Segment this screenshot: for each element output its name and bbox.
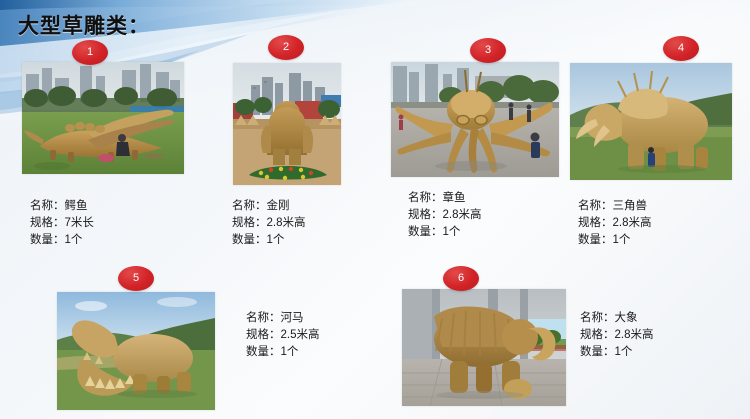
label-qty-2: 数量： bbox=[232, 234, 267, 246]
item-photo-3 bbox=[391, 62, 559, 177]
value-name-2: 金刚 bbox=[267, 200, 290, 212]
value-spec-3: 2.8米高 bbox=[443, 209, 482, 221]
label-name-3: 名称： bbox=[408, 192, 443, 204]
item-badge-2: 2 bbox=[268, 35, 304, 60]
item-caption-5: 名称：河马 规格：2.5米高 数量：1个 bbox=[246, 310, 320, 361]
item-badge-4: 4 bbox=[663, 36, 699, 61]
item-badge-3: 3 bbox=[470, 38, 506, 63]
item-photo-2 bbox=[233, 63, 341, 185]
label-name-6: 名称： bbox=[580, 312, 615, 324]
value-name-3: 章鱼 bbox=[443, 192, 466, 204]
value-qty-1: 1个 bbox=[65, 234, 83, 246]
label-qty-3: 数量： bbox=[408, 226, 443, 238]
value-qty-3: 1个 bbox=[443, 226, 461, 238]
label-name-5: 名称： bbox=[246, 312, 281, 324]
label-spec-1: 规格： bbox=[30, 217, 65, 229]
value-spec-5: 2.5米高 bbox=[281, 329, 320, 341]
label-spec-5: 规格： bbox=[246, 329, 281, 341]
value-qty-6: 1个 bbox=[615, 346, 633, 358]
value-name-6: 大象 bbox=[615, 312, 638, 324]
value-name-5: 河马 bbox=[281, 312, 304, 324]
value-qty-5: 1个 bbox=[281, 346, 299, 358]
label-name-1: 名称： bbox=[30, 200, 65, 212]
item-badge-5: 5 bbox=[118, 266, 154, 291]
page-title: 大型草雕类： bbox=[18, 10, 150, 40]
label-spec-4: 规格： bbox=[578, 217, 613, 229]
item-photo-5 bbox=[57, 292, 215, 410]
label-qty-4: 数量： bbox=[578, 234, 613, 246]
value-qty-2: 1个 bbox=[267, 234, 285, 246]
slide-canvas: 大型草雕类： 1 bbox=[0, 0, 750, 419]
item-caption-3: 名称：章鱼 规格：2.8米高 数量：1个 bbox=[408, 190, 482, 241]
item-photo-4 bbox=[570, 63, 732, 180]
value-qty-4: 1个 bbox=[613, 234, 631, 246]
item-photo-1 bbox=[22, 62, 184, 174]
item-photo-6 bbox=[402, 289, 566, 406]
label-qty-6: 数量： bbox=[580, 346, 615, 358]
label-spec-3: 规格： bbox=[408, 209, 443, 221]
item-caption-4: 名称：三角兽 规格：2.8米高 数量：1个 bbox=[578, 198, 652, 249]
label-spec-2: 规格： bbox=[232, 217, 267, 229]
item-badge-1: 1 bbox=[72, 40, 108, 65]
item-caption-6: 名称：大象 规格：2.8米高 数量：1个 bbox=[580, 310, 654, 361]
label-qty-5: 数量： bbox=[246, 346, 281, 358]
value-spec-6: 2.8米高 bbox=[615, 329, 654, 341]
label-spec-6: 规格： bbox=[580, 329, 615, 341]
label-name-2: 名称： bbox=[232, 200, 267, 212]
value-name-1: 鳄鱼 bbox=[65, 200, 88, 212]
value-spec-1: 7米长 bbox=[65, 217, 94, 229]
label-name-4: 名称： bbox=[578, 200, 613, 212]
item-caption-1: 名称：鳄鱼 规格：7米长 数量：1个 bbox=[30, 198, 94, 249]
value-name-4: 三角兽 bbox=[613, 200, 648, 212]
item-badge-6: 6 bbox=[443, 266, 479, 291]
value-spec-2: 2.8米高 bbox=[267, 217, 306, 229]
label-qty-1: 数量： bbox=[30, 234, 65, 246]
value-spec-4: 2.8米高 bbox=[613, 217, 652, 229]
item-caption-2: 名称：金刚 规格：2.8米高 数量：1个 bbox=[232, 198, 306, 249]
